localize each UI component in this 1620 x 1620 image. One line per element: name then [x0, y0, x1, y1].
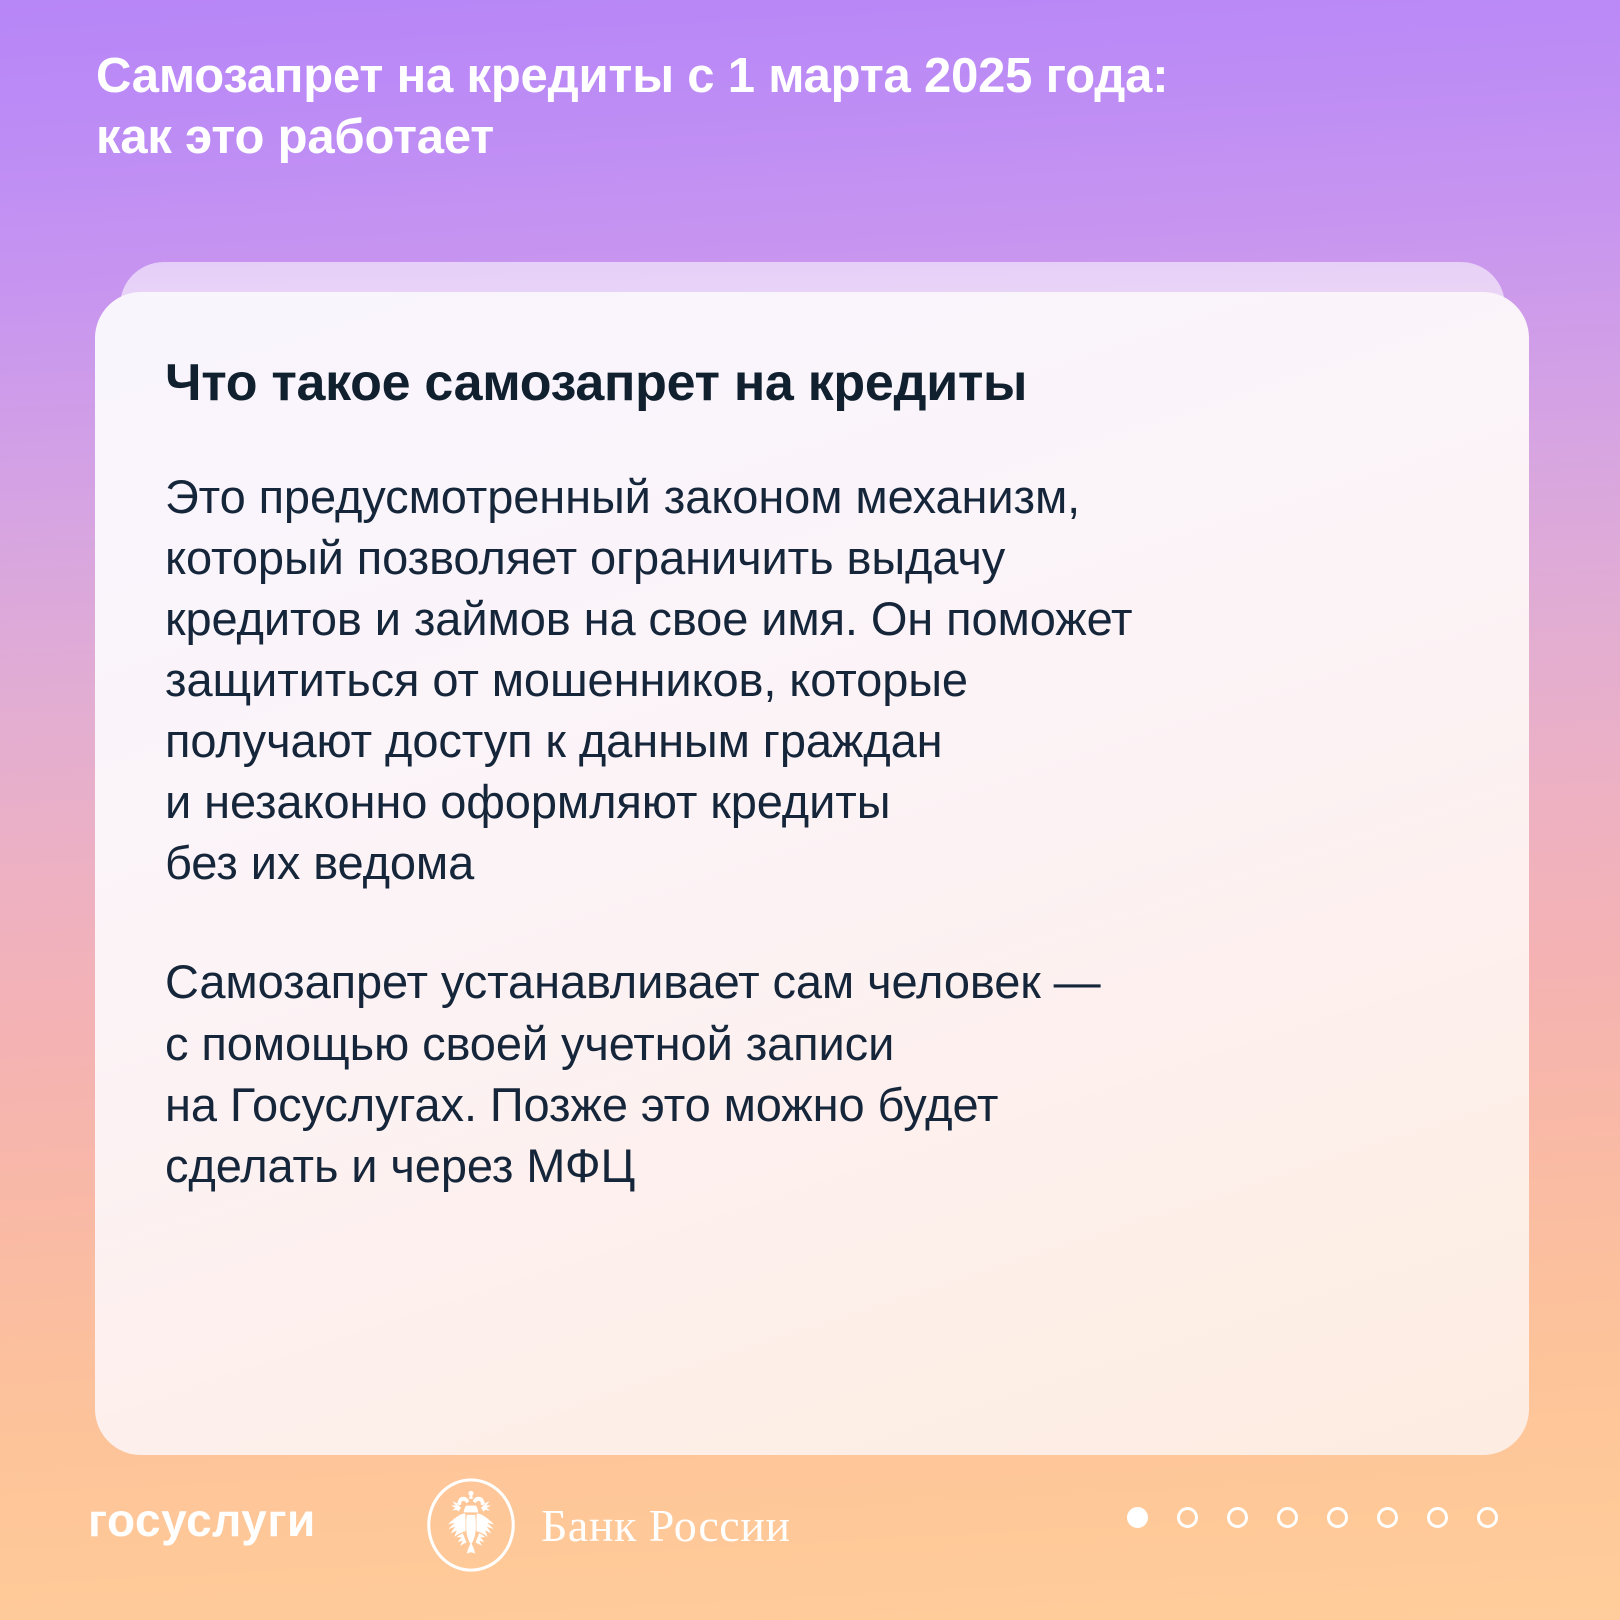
card-paragraph-2: Самозапрет устанавливает сам человек — с…	[165, 951, 1459, 1195]
double-headed-eagle-icon	[423, 1477, 519, 1573]
pagination-dots[interactable]	[1127, 1507, 1498, 1528]
pagination-dot-5[interactable]	[1327, 1507, 1348, 1528]
content-card: Что такое самозапрет на кредиты Это пред…	[95, 292, 1529, 1455]
slide-footer: госуслуги	[0, 1455, 1620, 1620]
infographic-slide: Самозапрет на кредиты с 1 марта 2025 год…	[0, 0, 1620, 1620]
card-paragraph-1: Это предусмотренный законом механизм, ко…	[165, 466, 1459, 894]
card-heading: Что такое самозапрет на кредиты	[165, 354, 1459, 414]
pagination-dot-2[interactable]	[1177, 1507, 1198, 1528]
page-title: Самозапрет на кредиты с 1 марта 2025 год…	[96, 46, 1426, 168]
gosuslugi-logo: госуслуги	[88, 1493, 316, 1547]
pagination-dot-7[interactable]	[1427, 1507, 1448, 1528]
pagination-dot-1[interactable]	[1127, 1507, 1148, 1528]
pagination-dot-8[interactable]	[1477, 1507, 1498, 1528]
bank-of-russia-logo: Банк России	[423, 1477, 790, 1573]
slide-header: Самозапрет на кредиты с 1 марта 2025 год…	[96, 46, 1426, 168]
bank-of-russia-label: Банк России	[541, 1499, 790, 1552]
pagination-dot-4[interactable]	[1277, 1507, 1298, 1528]
pagination-dot-3[interactable]	[1227, 1507, 1248, 1528]
pagination-dot-6[interactable]	[1377, 1507, 1398, 1528]
